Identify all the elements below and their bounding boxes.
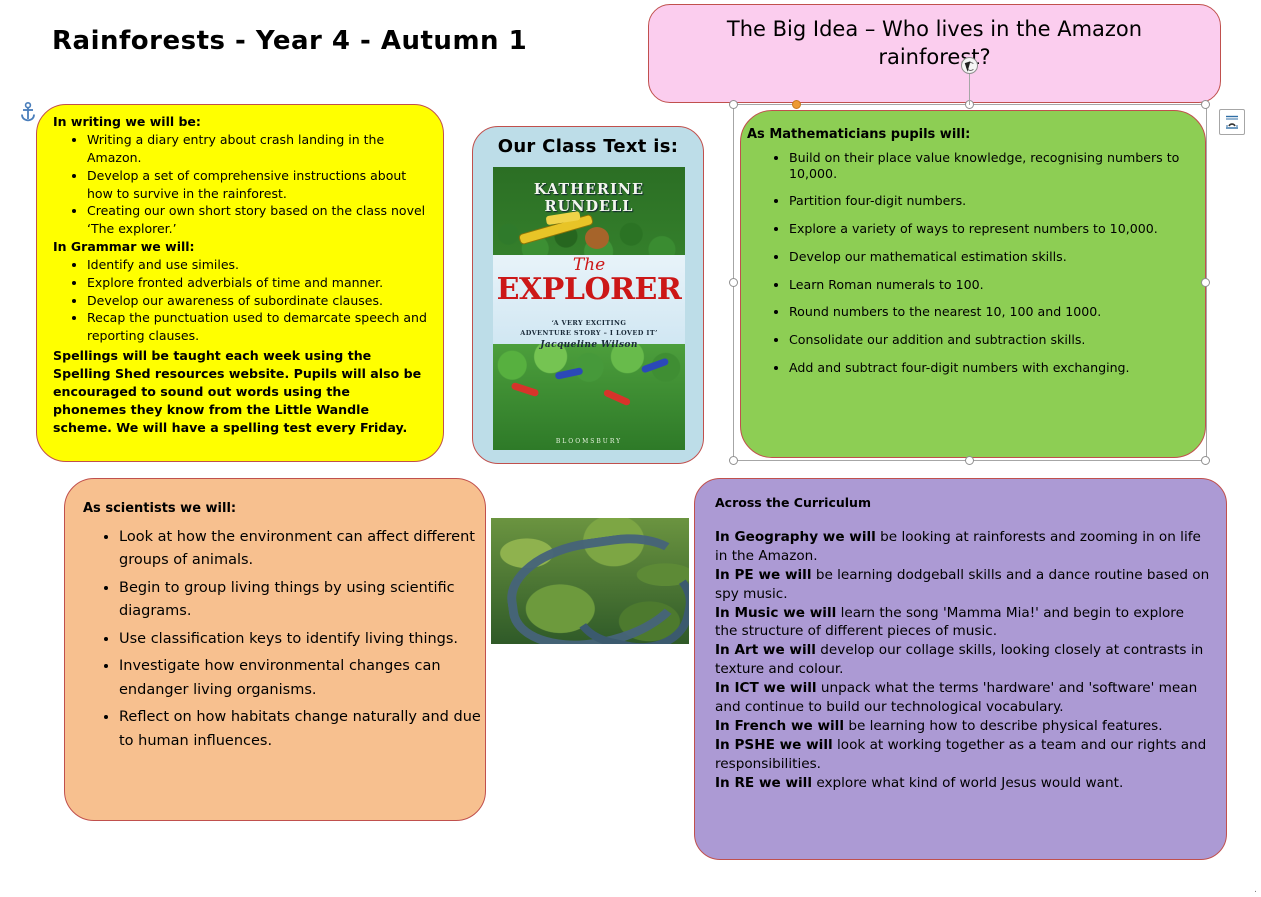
- book-canopy-bottom: BLOOMSBURY: [493, 344, 685, 450]
- book-parrot-icon: [555, 367, 584, 380]
- book-parrot-icon: [641, 357, 670, 373]
- book-title-block: The EXPLORER: [493, 257, 685, 306]
- list-item: Learn Roman numerals to 100.: [789, 277, 1205, 293]
- resize-handle-middle-right[interactable]: [1201, 278, 1210, 287]
- resize-handle-top-right[interactable]: [1201, 100, 1210, 109]
- page-title: Rainforests - Year 4 - Autumn 1: [52, 26, 527, 56]
- layout-options-button[interactable]: [1219, 109, 1245, 135]
- curriculum-subject: In PSHE we will: [715, 737, 833, 753]
- book-parrot-icon: [511, 382, 540, 397]
- list-item: Investigate how environmental changes ca…: [119, 655, 485, 702]
- curriculum-text: explore what kind of world Jesus would w…: [812, 775, 1123, 791]
- list-item: Explore fronted adverbials of time and m…: [87, 274, 427, 292]
- list-item: Consolidate our addition and subtraction…: [789, 332, 1205, 348]
- list-item: Develop our awareness of subordinate cla…: [87, 292, 427, 310]
- list-item: In ICT we will unpack what the terms 'ha…: [715, 679, 1210, 717]
- list-item: Add and subtract four-digit numbers with…: [789, 360, 1205, 376]
- curriculum-heading: Across the Curriculum: [715, 495, 1226, 510]
- maths-heading: As Mathematicians pupils will:: [747, 127, 1205, 142]
- science-card[interactable]: As scientists we will: Look at how the e…: [64, 478, 486, 821]
- list-item: Creating our own short story based on th…: [87, 202, 427, 238]
- list-item: Recap the punctuation used to demarcate …: [87, 309, 427, 345]
- shape-adjust-handle[interactable]: [792, 100, 801, 109]
- list-item: In PE we will be learning dodgeball skil…: [715, 566, 1210, 604]
- class-text-heading: Our Class Text is:: [473, 136, 703, 157]
- book-endorser: Jacqueline Wilson: [493, 339, 685, 353]
- list-item: Round numbers to the nearest 10, 100 and…: [789, 304, 1205, 320]
- book-author: KATHERINE RUNDELL: [493, 181, 685, 215]
- list-item: In French we will be learning how to des…: [715, 717, 1210, 736]
- curriculum-subject: In French we will: [715, 718, 844, 734]
- maths-card[interactable]: As Mathematicians pupils will: Build on …: [740, 110, 1206, 458]
- grammar-heading: In Grammar we will:: [53, 239, 427, 255]
- book-publisher: BLOOMSBURY: [493, 438, 685, 445]
- list-item: Develop a set of comprehensive instructi…: [87, 167, 427, 203]
- big-idea-text: The Big Idea – Who lives in the Amazon r…: [649, 5, 1220, 72]
- curriculum-subject: In PE we will: [715, 567, 812, 583]
- anchor-icon: [19, 102, 37, 122]
- list-item: In Music we will learn the song 'Mamma M…: [715, 604, 1210, 642]
- resize-handle-bottom-right[interactable]: [1201, 456, 1210, 465]
- list-item: Partition four-digit numbers.: [789, 193, 1205, 209]
- book-monkey-illustration: [585, 227, 609, 249]
- list-item: Develop our mathematical estimation skil…: [789, 249, 1205, 265]
- list-item: Build on their place value knowledge, re…: [789, 150, 1205, 181]
- resize-handle-bottom-center[interactable]: [965, 456, 974, 465]
- maths-bullet-list: Build on their place value knowledge, re…: [741, 150, 1205, 376]
- book-parrot-icon: [603, 389, 631, 407]
- rainforest-photo[interactable]: [491, 518, 689, 644]
- class-text-card[interactable]: Our Class Text is: KATHERINE RUNDELL The…: [472, 126, 704, 464]
- curriculum-card[interactable]: Across the Curriculum In Geography we wi…: [694, 478, 1227, 860]
- grammar-bullet-list: Identify and use similes. Explore fronte…: [53, 256, 427, 345]
- book-quote: ‘A VERY EXCITING ADVENTURE STORY – I LOV…: [493, 319, 685, 352]
- list-item: Reflect on how habitats change naturally…: [119, 706, 485, 753]
- rotate-handle-stem: [969, 72, 970, 105]
- document-canvas: Rainforests - Year 4 - Autumn 1 The Big …: [0, 0, 1261, 897]
- writing-bullet-list: Writing a diary entry about crash landin…: [53, 131, 427, 238]
- science-heading: As scientists we will:: [83, 501, 485, 516]
- curriculum-subject: In RE we will: [715, 775, 812, 791]
- list-item: Use classification keys to identify livi…: [119, 628, 485, 651]
- book-cover-image: KATHERINE RUNDELL The EXPLORER ‘A VERY E…: [493, 167, 685, 450]
- list-item: In Art we will develop our collage skill…: [715, 641, 1210, 679]
- book-title-main: EXPLORER: [493, 274, 685, 306]
- resize-handle-middle-left[interactable]: [729, 278, 738, 287]
- book-quote-line1: ‘A VERY EXCITING: [493, 319, 685, 329]
- writing-heading: In writing we will be:: [53, 114, 427, 130]
- resize-handle-bottom-left[interactable]: [729, 456, 738, 465]
- list-item: Look at how the environment can affect d…: [119, 526, 485, 573]
- curriculum-subject: In Geography we will: [715, 529, 876, 545]
- resize-handle-top-left[interactable]: [729, 100, 738, 109]
- corner-mark: .: [1254, 885, 1257, 895]
- list-item: Writing a diary entry about crash landin…: [87, 131, 427, 167]
- list-item: In Geography we will be looking at rainf…: [715, 528, 1210, 566]
- big-idea-card[interactable]: The Big Idea – Who lives in the Amazon r…: [648, 4, 1221, 103]
- curriculum-text: be learning how to describe physical fea…: [844, 718, 1163, 734]
- list-item: Identify and use similes.: [87, 256, 427, 274]
- science-bullet-list: Look at how the environment can affect d…: [65, 526, 485, 753]
- layout-options-icon: [1224, 114, 1240, 130]
- list-item: Begin to group living things by using sc…: [119, 577, 485, 624]
- list-item: Explore a variety of ways to represent n…: [789, 221, 1205, 237]
- spellings-paragraph: Spellings will be taught each week using…: [53, 347, 427, 438]
- curriculum-subject: In Music we will: [715, 605, 836, 621]
- book-quote-line2: ADVENTURE STORY – I LOVED IT’: [493, 329, 685, 339]
- list-item: In PSHE we will look at working together…: [715, 736, 1210, 774]
- curriculum-subject: In Art we will: [715, 642, 816, 658]
- curriculum-subject: In ICT we will: [715, 680, 817, 696]
- curriculum-list: In Geography we will be looking at rainf…: [695, 528, 1226, 792]
- writing-card[interactable]: In writing we will be: Writing a diary e…: [36, 104, 444, 462]
- list-item: In RE we will explore what kind of world…: [715, 774, 1210, 793]
